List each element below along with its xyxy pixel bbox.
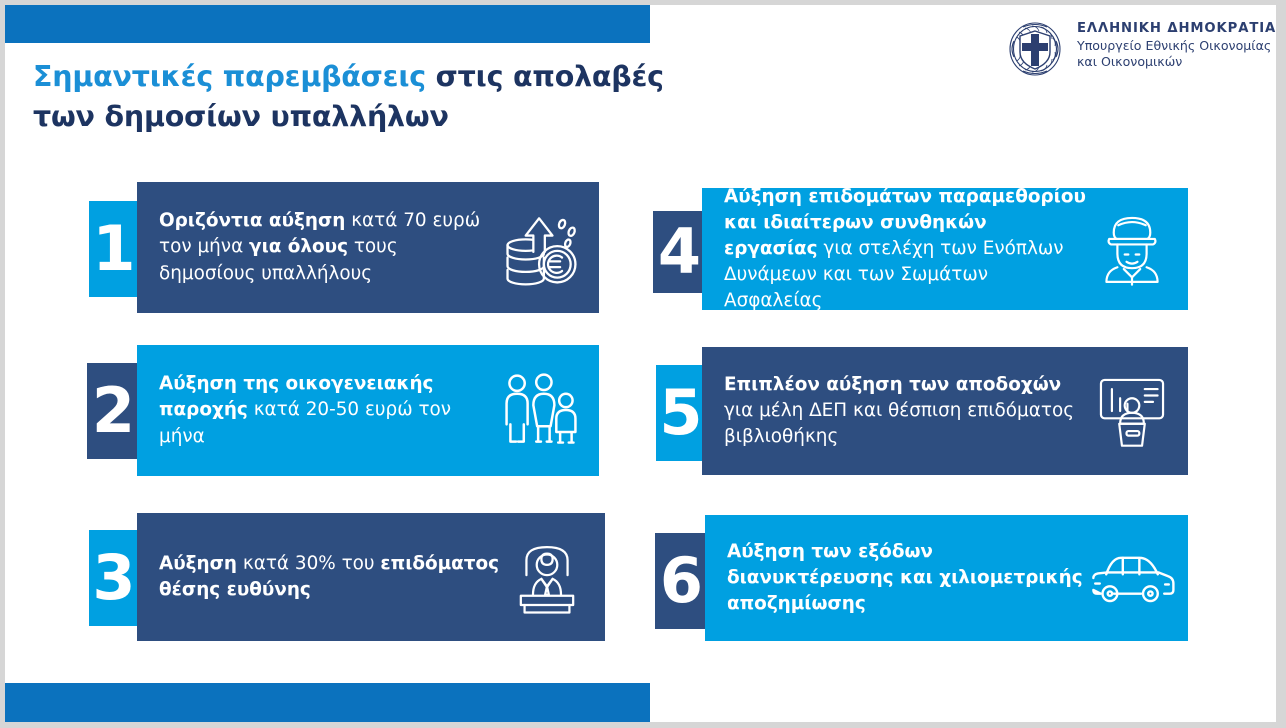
card-text-6: Αύξηση των εξόδων διανυκτέρευσης και χιλ…: [727, 539, 1086, 617]
card-text-1: Οριζόντια αύξηση κατά 70 ευρώ τον μήνα γ…: [159, 208, 495, 286]
title-rest: στις απολαβές: [426, 60, 664, 93]
greek-coat-of-arms-icon: [1005, 19, 1065, 79]
title-second-line: των δημοσίων υπαλλήλων: [33, 100, 449, 133]
lecturer-whiteboard-icon: [1086, 363, 1178, 459]
logo-country-line: ΕΛΛΗΝΙΚΗ ΔΗΜΟΚΡΑΤΙΑ: [1077, 21, 1276, 38]
card-text-2: Αύξηση της οικογενειακής παροχής κατά 20…: [159, 371, 495, 449]
family-group-icon: [495, 363, 587, 459]
card-text-5: Επιπλέον αύξηση των αποδοχών για μέλη ΔΕ…: [724, 372, 1086, 450]
card-number-3: 3: [92, 547, 134, 609]
card-badge-3: 3: [89, 530, 138, 626]
card-5[interactable]: Επιπλέον αύξηση των αποδοχών για μέλη ΔΕ…: [702, 347, 1188, 475]
decorative-bottom-bar: [5, 683, 650, 722]
decorative-top-bar: [5, 5, 650, 43]
card-badge-5: 5: [656, 365, 705, 461]
card-badge-6: 6: [655, 533, 707, 629]
logo-ministry-line-2: και Οικονομικών: [1077, 54, 1276, 70]
ministry-logo: ΕΛΛΗΝΙΚΗ ΔΗΜΟΚΡΑΤΙΑ Υπουργείο Εθνικής Οι…: [1005, 19, 1276, 81]
logo-ministry-line-1: Υπουργείο Εθνικής Οικονομίας: [1077, 38, 1276, 54]
slide-canvas: ΕΛΛΗΝΙΚΗ ΔΗΜΟΚΡΑΤΙΑ Υπουργείο Εθνικής Οι…: [5, 5, 1276, 722]
card-badge-1: 1: [89, 201, 138, 297]
slide-title: Σημαντικές παρεμβάσεις στις απολαβές των…: [33, 57, 693, 138]
executive-at-desk-icon: [501, 529, 593, 625]
card-number-1: 1: [92, 218, 134, 280]
card-text-3: Αύξηση κατά 30% του επιδόματος θέσης ευθ…: [159, 551, 501, 603]
car-icon: [1086, 530, 1178, 626]
card-text-4: Αύξηση επιδομάτων παραμεθορίου και ιδιαί…: [724, 184, 1086, 315]
card-number-4: 4: [658, 221, 700, 283]
card-3[interactable]: Αύξηση κατά 30% του επιδόματος θέσης ευθ…: [137, 513, 605, 641]
card-number-6: 6: [660, 550, 702, 612]
soldier-helmet-icon: [1086, 201, 1178, 297]
card-2[interactable]: Αύξηση της οικογενειακής παροχής κατά 20…: [137, 345, 599, 476]
card-badge-4: 4: [653, 211, 705, 293]
card-number-2: 2: [92, 380, 134, 442]
card-number-5: 5: [659, 382, 701, 444]
card-6[interactable]: Αύξηση των εξόδων διανυκτέρευσης και χιλ…: [705, 515, 1188, 641]
card-badge-2: 2: [87, 363, 139, 459]
title-highlight: Σημαντικές παρεμβάσεις: [33, 60, 426, 93]
card-1[interactable]: Οριζόντια αύξηση κατά 70 ευρώ τον μήνα γ…: [137, 182, 599, 313]
coins-euro-arrow-up-icon: [495, 200, 587, 296]
card-4[interactable]: Αύξηση επιδομάτων παραμεθορίου και ιδιαί…: [702, 188, 1188, 310]
